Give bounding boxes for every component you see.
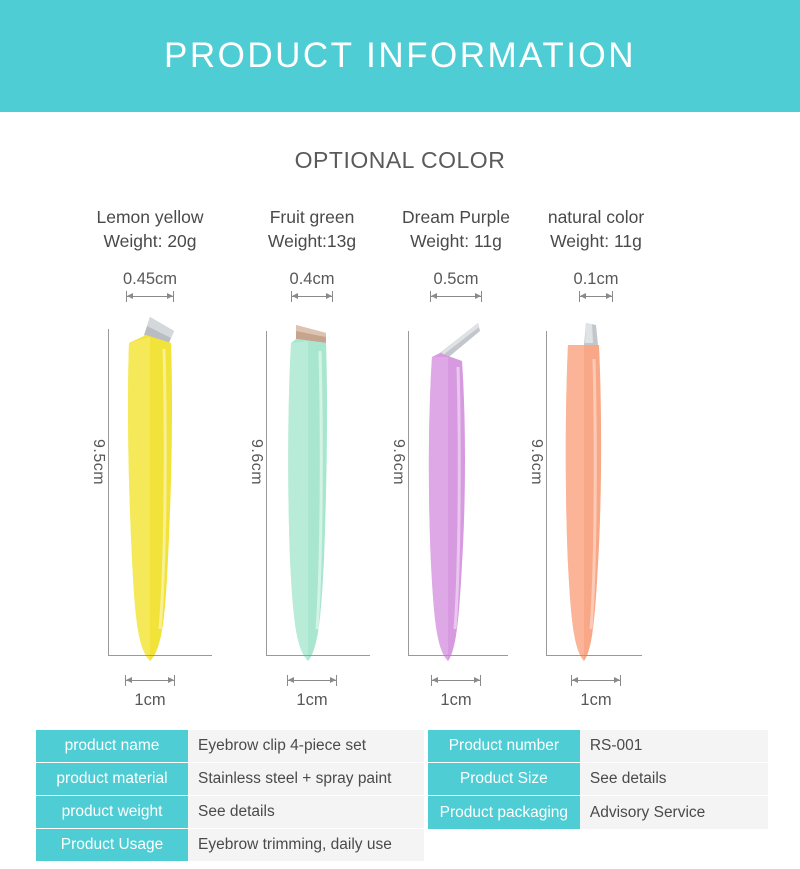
height-dimension-line [408,331,409,655]
product-height-label: 9.6cm [389,439,407,485]
table-row: product name Eyebrow clip 4-piece set [36,730,424,763]
table-row: product material Stainless steel + spray… [36,763,424,796]
baseline [266,655,370,656]
product-color-name: Dream Purple [382,205,530,229]
spec-key: Product Usage [36,829,188,862]
optional-color-heading: OPTIONAL COLOR [0,147,800,174]
baseline [546,655,642,656]
tweezer-svg [382,309,530,669]
product-color-gallery: Lemon yellow Weight: 20g 0.45cm 9.5cm [0,205,800,695]
tweezer-illustration-fruit-green: 9.6cm [238,309,386,669]
base-width-dimension-arrow [571,675,621,687]
product-height-label: 9.5cm [89,439,107,485]
spec-value-empty [580,829,768,862]
table-row-empty [428,829,768,862]
product-base-width-label: 1cm [76,691,224,710]
tip-width-dimension-arrow [291,291,333,303]
tweezer-illustration-dream-purple: 9.6cm [382,309,530,669]
spec-table-left: product name Eyebrow clip 4-piece set pr… [36,730,424,862]
spec-value: Eyebrow trimming, daily use [188,829,424,862]
spec-key: product name [36,730,188,763]
product-item-lemon-yellow: Lemon yellow Weight: 20g 0.45cm 9.5cm [76,205,224,710]
spec-key: product material [36,763,188,796]
base-width-dimension-arrow [125,675,175,687]
spec-value: Advisory Service [580,796,768,829]
table-row: product weight See details [36,796,424,829]
tip-width-dimension-arrow [579,291,613,303]
height-dimension-line [108,329,109,655]
spec-table-right: Product number RS-001 Product Size See d… [428,730,768,862]
spec-value: Eyebrow clip 4-piece set [188,730,424,763]
tweezer-illustration-lemon-yellow: 9.5cm [76,309,224,669]
base-width-dimension-arrow [287,675,337,687]
product-tip-width-label: 0.5cm [382,269,530,289]
tip-width-dimension-arrow [430,291,482,303]
base-width-dimension-arrow [431,675,481,687]
product-item-fruit-green: Fruit green Weight:13g 0.4cm 9.6cm [238,205,386,710]
baseline [108,655,212,656]
product-item-natural-color: natural color Weight: 11g 0.1cm 9.6cm [522,205,670,710]
product-item-dream-purple: Dream Purple Weight: 11g 0.5cm 9.6cm [382,205,530,710]
product-base-width-label: 1cm [382,691,530,710]
tip-width-dimension-arrow [126,291,174,303]
product-tip-width-label: 0.1cm [522,269,670,289]
table-row: Product Usage Eyebrow trimming, daily us… [36,829,424,862]
tweezer-svg [76,309,224,669]
tweezer-illustration-natural-color: 9.6cm [522,309,670,669]
page-title: PRODUCT INFORMATION [164,36,636,76]
product-height-label: 9.6cm [247,439,265,485]
spec-key: Product Size [428,763,580,796]
spec-key: Product packaging [428,796,580,829]
product-tip-width-label: 0.45cm [76,269,224,289]
page-header: PRODUCT INFORMATION [0,0,800,112]
spec-value: See details [188,796,424,829]
product-color-name: Lemon yellow [76,205,224,229]
height-dimension-line [546,331,547,655]
spec-value: Stainless steel + spray paint [188,763,424,796]
table-row: Product packaging Advisory Service [428,796,768,829]
spec-key-empty [428,829,580,862]
spec-key: Product number [428,730,580,763]
product-spec-tables: product name Eyebrow clip 4-piece set pr… [36,730,768,862]
product-weight: Weight: 20g [76,229,224,253]
baseline [408,655,508,656]
height-dimension-line [266,331,267,655]
product-information-page: PRODUCT INFORMATION OPTIONAL COLOR Lemon… [0,0,800,869]
tweezer-svg [522,309,670,669]
tweezer-svg [238,309,386,669]
product-weight: Weight:13g [238,229,386,253]
product-color-name: natural color [522,205,670,229]
product-color-name: Fruit green [238,205,386,229]
spec-value: See details [580,763,768,796]
spec-value: RS-001 [580,730,768,763]
product-height-label: 9.6cm [527,439,545,485]
spec-key: product weight [36,796,188,829]
table-row: Product number RS-001 [428,730,768,763]
product-weight: Weight: 11g [522,229,670,253]
product-weight: Weight: 11g [382,229,530,253]
product-tip-width-label: 0.4cm [238,269,386,289]
product-base-width-label: 1cm [522,691,670,710]
table-row: Product Size See details [428,763,768,796]
product-base-width-label: 1cm [238,691,386,710]
